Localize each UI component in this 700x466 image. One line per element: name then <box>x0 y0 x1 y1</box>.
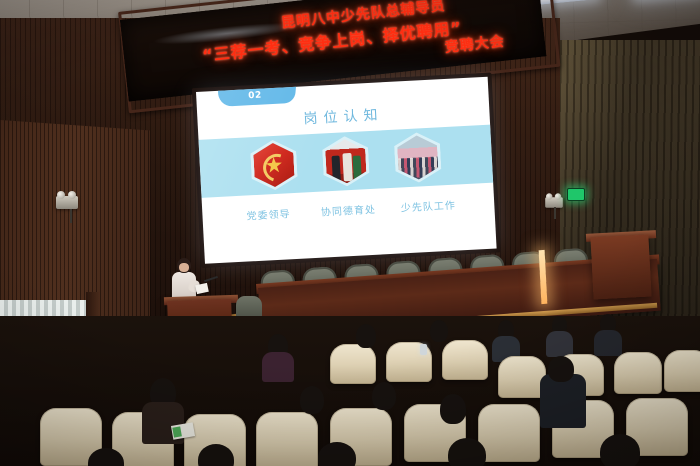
audience-member <box>430 320 448 342</box>
slide-number: 02 <box>248 91 262 102</box>
audience-member <box>300 386 324 414</box>
exit-sign-icon <box>567 188 585 201</box>
slide-label-2: 协同德育处 <box>316 201 381 219</box>
audience-seat <box>330 344 376 384</box>
emergency-light-cord <box>70 209 72 223</box>
audience-member <box>600 434 640 466</box>
group-photo <box>397 134 439 180</box>
slide-labels: 党委领导 协同德育处 少先队工作 <box>202 195 494 225</box>
photo-person <box>332 156 341 182</box>
document-marker <box>172 426 182 437</box>
photo-person <box>342 153 352 181</box>
audience-member <box>546 331 573 357</box>
audience-member <box>262 352 294 382</box>
side-podium <box>590 235 651 300</box>
hex-image-inner <box>253 142 295 188</box>
hex-image-inner <box>397 134 439 180</box>
audience-member <box>448 438 486 466</box>
audience-seat <box>442 340 488 380</box>
presenter-face <box>179 263 189 272</box>
emergency-light-icon <box>56 196 78 209</box>
hex-image-group <box>393 131 442 183</box>
audience-area <box>0 316 700 466</box>
slide-label-1: 党委领导 <box>236 205 301 223</box>
auditorium-photo: 昆明八中少先队总辅导员 “三荐一考、竞争上岗、择优聘用” 竞聘大会 02 岗位认… <box>0 0 700 466</box>
audience-seat <box>478 404 540 462</box>
projection-screen: 02 岗位认知 <box>196 77 497 264</box>
audience-phone <box>420 344 427 355</box>
presentation-slide: 02 岗位认知 <box>196 77 497 264</box>
audience-seat <box>498 356 546 398</box>
audience-seat <box>256 412 318 466</box>
audience-member <box>594 330 622 356</box>
audience-member <box>540 374 586 428</box>
audience-member <box>356 324 376 348</box>
emergency-light-cord <box>554 207 556 219</box>
audience-member <box>548 356 574 382</box>
ceremony-photo <box>325 138 367 184</box>
audience-member <box>372 382 396 410</box>
hex-image-inner <box>325 138 367 184</box>
party-flag-photo <box>253 142 295 188</box>
hex-image-party-flag <box>250 139 299 191</box>
audience-seat <box>664 350 700 392</box>
audience-seat <box>614 352 662 394</box>
slide-label-3: 少先队工作 <box>396 196 461 214</box>
photo-person <box>353 155 362 180</box>
photo-crowd <box>398 156 439 178</box>
audience-member <box>440 394 466 424</box>
audience-member <box>318 442 356 466</box>
hex-image-ceremony <box>322 135 371 187</box>
